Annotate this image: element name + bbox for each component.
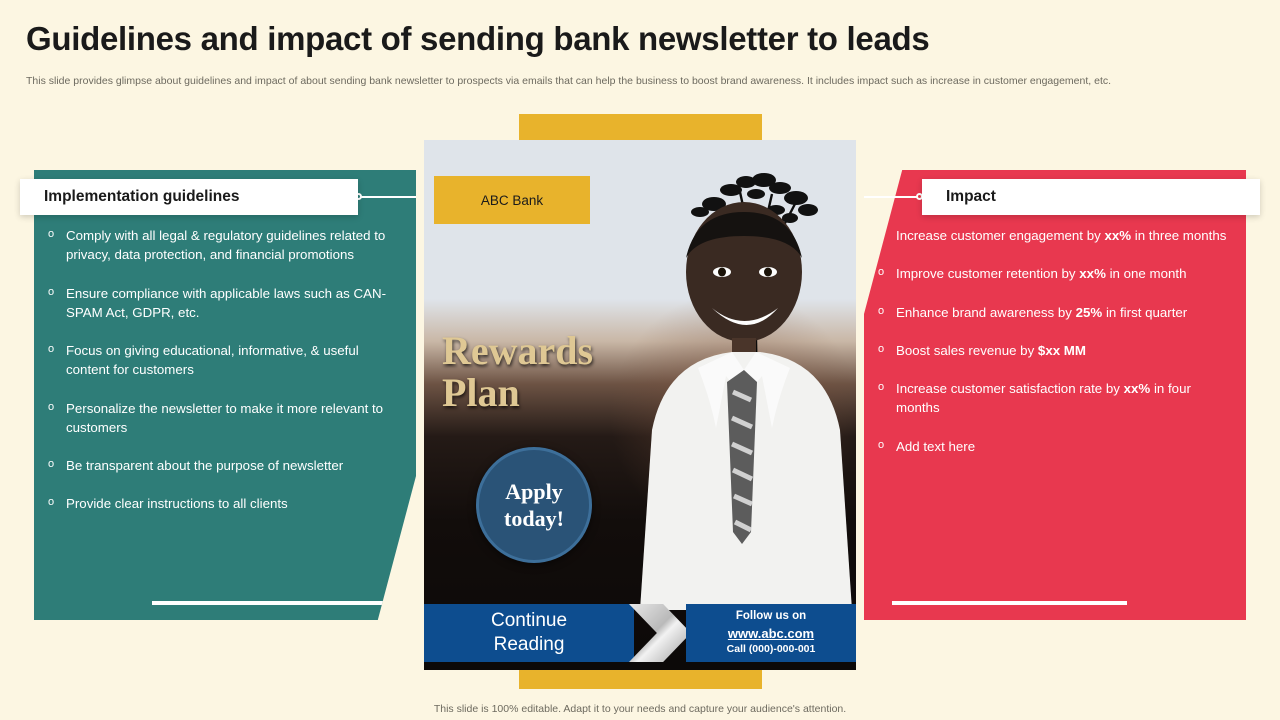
bullet-marker-icon: o xyxy=(878,341,896,359)
bullet-marker-icon: o xyxy=(878,379,896,397)
guideline-item: oBe transparent about the purpose of new… xyxy=(48,456,402,475)
headline-line-1: Rewards xyxy=(442,330,652,372)
guideline-item: oFocus on giving educational, informativ… xyxy=(48,341,402,380)
guideline-item: oProvide clear instructions to all clien… xyxy=(48,494,402,513)
bullet-marker-icon: o xyxy=(878,303,896,321)
guideline-text: Focus on giving educational, informative… xyxy=(66,341,402,380)
bullet-marker-icon: o xyxy=(48,341,66,359)
accent-bar-top xyxy=(519,114,762,140)
guideline-item: oPersonalize the newsletter to make it m… xyxy=(48,399,402,438)
impact-item: oEnhance brand awareness by 25% in first… xyxy=(878,303,1232,322)
newsletter-footer-bar: Continue Reading Follow us on www.abc.co… xyxy=(424,604,856,662)
bullet-marker-icon: o xyxy=(878,264,896,282)
page-title: Guidelines and impact of sending bank ne… xyxy=(26,20,1126,58)
impact-list: oIncrease customer engagement by xx% in … xyxy=(864,226,1246,475)
follow-us-block: Follow us on www.abc.com Call (000)-000-… xyxy=(686,604,856,662)
headline-line-2: Plan xyxy=(442,372,652,414)
bullet-marker-icon: o xyxy=(48,226,66,244)
panel-underline-right xyxy=(892,601,1127,605)
bullet-marker-icon: o xyxy=(878,437,896,455)
continue-line-2: Reading xyxy=(494,633,565,657)
apply-line-2: today! xyxy=(504,505,564,533)
impact-item: oBoost sales revenue by $xx MM xyxy=(878,341,1232,360)
heading-text-right: Impact xyxy=(946,188,996,206)
footer-note: This slide is 100% editable. Adapt it to… xyxy=(0,703,1280,715)
bullet-marker-icon: o xyxy=(48,399,66,417)
implementation-guidelines-heading: Implementation guidelines xyxy=(20,179,358,215)
guideline-text: Personalize the newsletter to make it mo… xyxy=(66,399,402,438)
website-link[interactable]: www.abc.com xyxy=(728,625,814,643)
chevron-right-icon xyxy=(629,604,691,662)
apply-today-badge[interactable]: Apply today! xyxy=(476,447,592,563)
bullet-marker-icon: o xyxy=(48,494,66,512)
guideline-item: oComply with all legal & regulatory guid… xyxy=(48,226,402,265)
impact-item: oImprove customer retention by xx% in on… xyxy=(878,264,1232,283)
impact-item: oIncrease customer satisfaction rate by … xyxy=(878,379,1232,418)
guidelines-list: oComply with all legal & regulatory guid… xyxy=(34,226,416,533)
guideline-text: Be transparent about the purpose of news… xyxy=(66,456,402,475)
bullet-marker-icon: o xyxy=(878,226,896,244)
impact-metric: xx% xyxy=(1079,266,1106,281)
heading-text-left: Implementation guidelines xyxy=(44,188,240,206)
impact-text: Add text here xyxy=(896,437,1232,456)
continue-line-1: Continue xyxy=(491,609,567,633)
bullet-marker-icon: o xyxy=(48,456,66,474)
continue-reading-button[interactable]: Continue Reading xyxy=(424,604,634,662)
apply-line-1: Apply xyxy=(505,478,562,506)
impact-text: Increase customer engagement by xx% in t… xyxy=(896,226,1232,245)
follow-label: Follow us on xyxy=(736,609,806,625)
impact-heading: Impact xyxy=(922,179,1260,215)
guideline-text: Ensure compliance with applicable laws s… xyxy=(66,284,402,323)
impact-text: Enhance brand awareness by 25% in first … xyxy=(896,303,1232,322)
impact-text: Boost sales revenue by $xx MM xyxy=(896,341,1232,360)
guideline-text: Provide clear instructions to all client… xyxy=(66,494,402,513)
connector-line-right xyxy=(864,196,922,198)
connector-line-left xyxy=(358,196,416,198)
impact-metric: 25% xyxy=(1076,305,1103,320)
impact-item: oIncrease customer engagement by xx% in … xyxy=(878,226,1232,245)
guideline-item: oEnsure compliance with applicable laws … xyxy=(48,284,402,323)
panel-underline-left xyxy=(152,601,387,605)
newsletter-preview-image: ABC Bank Rewards Plan Apply today! Conti… xyxy=(424,140,856,670)
impact-metric: xx% xyxy=(1104,228,1131,243)
implementation-guidelines-panel: oComply with all legal & regulatory guid… xyxy=(34,170,416,620)
impact-text: Improve customer retention by xx% in one… xyxy=(896,264,1232,283)
impact-metric: xx% xyxy=(1124,381,1151,396)
guideline-text: Comply with all legal & regulatory guide… xyxy=(66,226,402,265)
bullet-marker-icon: o xyxy=(48,284,66,302)
abc-bank-badge: ABC Bank xyxy=(434,176,590,224)
impact-text: Increase customer satisfaction rate by x… xyxy=(896,379,1232,418)
page-subtitle: This slide provides glimpse about guidel… xyxy=(26,74,1181,90)
impact-metric: $xx MM xyxy=(1038,343,1086,358)
phone-number: Call (000)-000-001 xyxy=(727,642,816,656)
impact-item: oAdd text here xyxy=(878,437,1232,456)
impact-panel: oIncrease customer engagement by xx% in … xyxy=(864,170,1246,620)
rewards-plan-headline: Rewards Plan xyxy=(442,330,652,414)
